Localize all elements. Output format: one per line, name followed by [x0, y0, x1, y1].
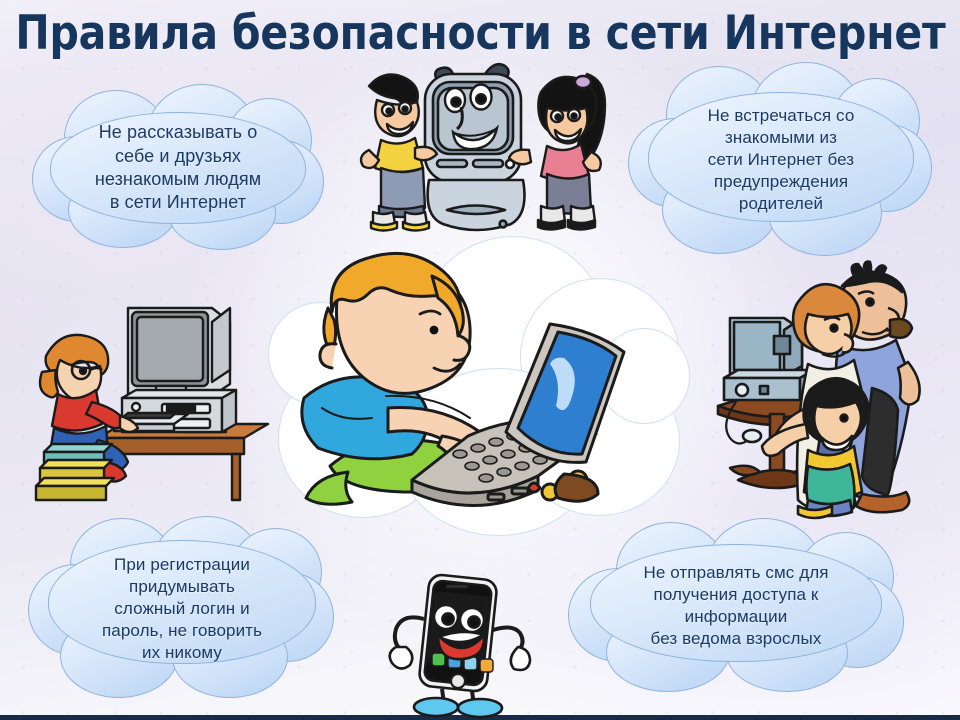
page-title: Правила безопасности в сети Интернет	[15, 6, 945, 61]
cloud-line: сложный логин и	[114, 598, 249, 620]
cloud-line: родителей	[739, 193, 823, 215]
cloud-line: придумывать	[129, 576, 235, 598]
cloud-line: незнакомым людям	[95, 168, 261, 191]
cloud-top-right: Не встречаться со знакомыми из сети Инте…	[626, 62, 936, 258]
cloud-line: предупреждения	[714, 171, 848, 193]
boy-at-desk-illustration	[36, 290, 276, 505]
cloud-line: информации	[685, 606, 788, 628]
cloud-line: При регистрации	[114, 554, 250, 576]
cloud-top-left: Не рассказывать о себе и друзьях незнако…	[28, 84, 328, 252]
boy-with-laptop-illustration	[292, 248, 632, 533]
cloud-bottom-right: Не отправлять смс для получения доступа …	[566, 518, 906, 694]
cloud-line: без ведома взрослых	[651, 628, 822, 650]
smiling-smartphone-illustration	[380, 565, 540, 715]
cloud-line: в сети Интернет	[110, 191, 246, 214]
cloud-line: их никому	[142, 642, 222, 664]
cloud-line: Не отправлять смс для	[643, 562, 828, 584]
family-at-computer-illustration	[712, 258, 952, 513]
cloud-line: знакомыми из	[725, 127, 837, 149]
cloud-bottom-left-text: При регистрации придумывать сложный логи…	[26, 516, 338, 702]
poster-title-band: Правила безопасности в сети Интернет	[0, 0, 960, 66]
cloud-line: получения доступа к	[654, 584, 819, 606]
cloud-line: себе и друзьях	[115, 145, 241, 168]
cloud-line: Не встречаться со	[708, 105, 855, 127]
cloud-bottom-left: При регистрации придумывать сложный логи…	[26, 516, 338, 702]
cloud-line: сети Интернет без	[708, 149, 854, 171]
cloud-bottom-right-text: Не отправлять смс для получения доступа …	[566, 518, 906, 694]
cloud-top-left-text: Не рассказывать о себе и друзьях незнако…	[28, 84, 328, 252]
poster-canvas: Правила безопасности в сети Интернет	[0, 0, 960, 720]
cloud-top-right-text: Не встречаться со знакомыми из сети Инте…	[626, 62, 936, 258]
cloud-line: пароль, не говорить	[102, 620, 262, 642]
cloud-line: Не рассказывать о	[99, 121, 258, 144]
kids-with-computer-illustration	[355, 52, 625, 242]
